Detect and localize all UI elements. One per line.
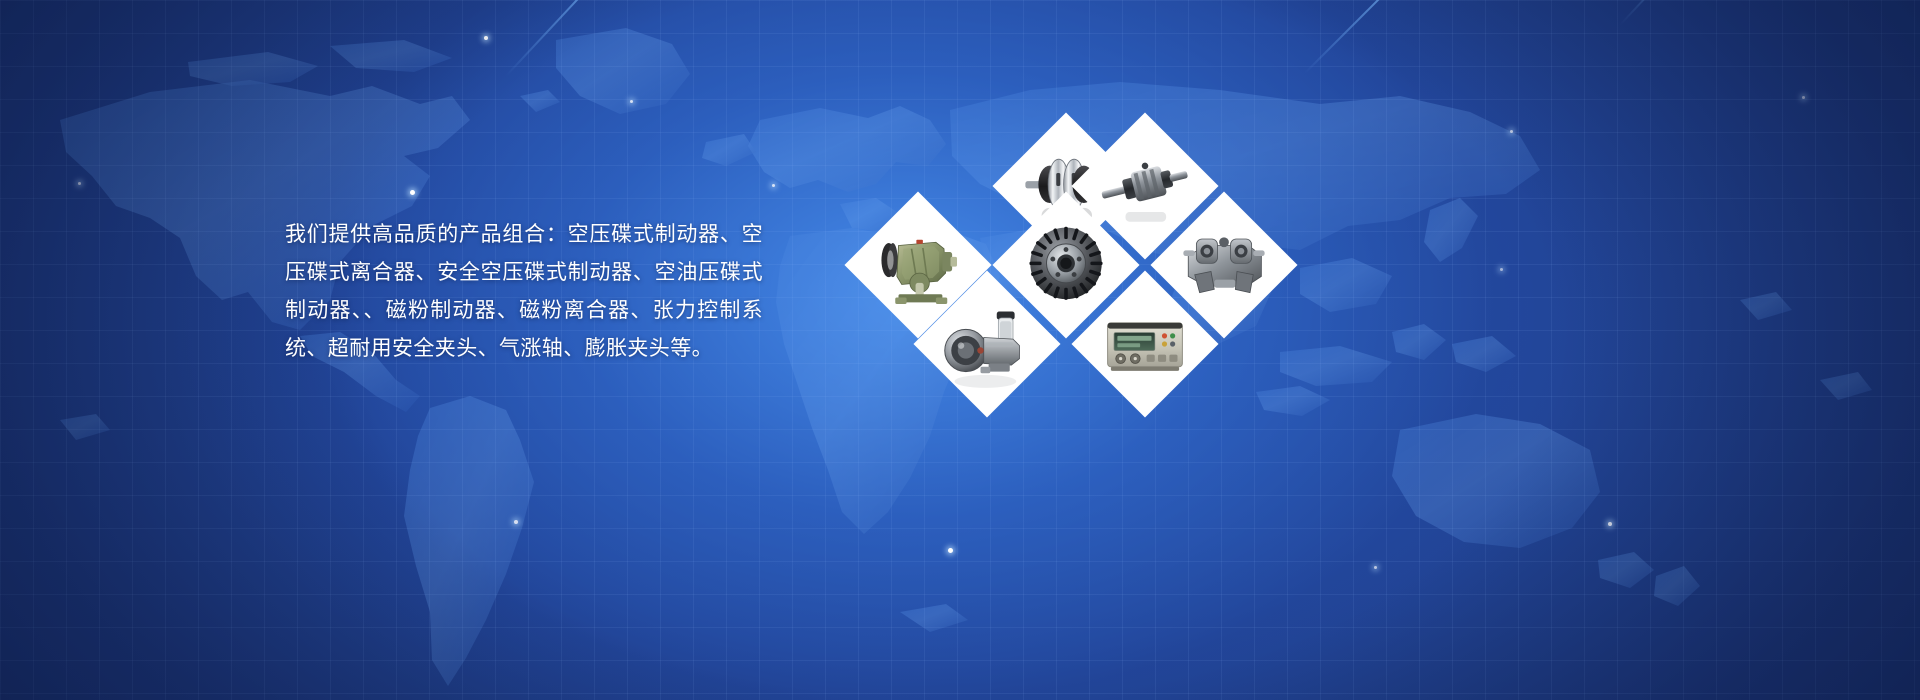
light-streak-icon xyxy=(1304,0,1518,74)
tension-controller-icon xyxy=(1093,292,1197,396)
sparkle-icon xyxy=(78,182,81,185)
sparkle-icon xyxy=(772,184,775,187)
sparkle-icon xyxy=(484,36,488,40)
sparkle-icon xyxy=(1500,268,1503,271)
magnetic-powder-clutch-icon xyxy=(1014,213,1118,317)
hydraulic-caliper-icon xyxy=(1172,213,1276,317)
pneumatic-cylinder-icon xyxy=(935,292,1039,396)
sparkle-icon xyxy=(1510,130,1513,133)
sparkle-icon xyxy=(948,548,953,553)
sparkle-icon xyxy=(1374,566,1377,569)
sparkle-icon xyxy=(1608,522,1612,526)
sparkle-icon xyxy=(410,190,415,195)
sparkle-icon xyxy=(1802,96,1805,99)
banner-description: 我们提供高品质的产品组合：空压碟式制动器、空压碟式离合器、安全空压碟式制动器、空… xyxy=(285,216,763,368)
product-name-list: 空压碟式制动器 气涨轴 蜗轮减速机 磁粉离合器 空油压碟式制动器 气压缸 张力控… xyxy=(0,0,1,1)
hero-banner: 我们提供高品质的产品组合：空压碟式制动器、空压碟式离合器、安全空压碟式制动器、空… xyxy=(0,0,1920,700)
light-streak-icon xyxy=(505,0,732,77)
light-streak-icon xyxy=(1619,0,1723,26)
list-item: 空压碟式制动器 xyxy=(0,0,1,1)
sparkle-icon xyxy=(514,520,518,524)
product-diamond-gallery xyxy=(884,143,1252,438)
expanding-shaft-icon xyxy=(1093,134,1197,238)
sparkle-icon xyxy=(630,100,633,103)
